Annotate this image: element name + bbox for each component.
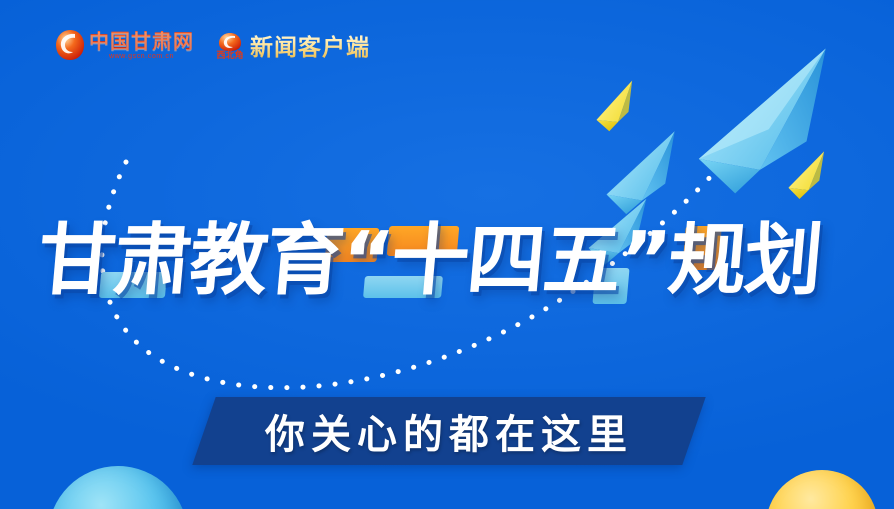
page-title: 甘肃教育“十四五”规划 <box>35 222 824 300</box>
gscn-text: 中国甘肃网 www.gscn.com.cn <box>89 31 194 60</box>
subtitle-text: 你关心的都在这里 <box>204 397 694 465</box>
xibeijiao-badge-label: 西北角 <box>216 52 243 61</box>
cyan-plane-large <box>678 49 864 202</box>
gscn-logo[interactable]: 中国甘肃网 www.gscn.com.cn <box>55 28 194 62</box>
yellow-plane-small-right <box>781 151 838 201</box>
cyan-plane-lower-left <box>580 162 661 224</box>
subtitle-banner: 你关心的都在这里 <box>192 397 705 465</box>
gscn-flame-icon <box>55 28 85 62</box>
cyan-sphere <box>48 466 188 509</box>
news-client-label: 新闻客户端 <box>250 28 370 62</box>
yellow-sphere <box>766 470 878 509</box>
yellow-plane-small-left <box>588 81 648 134</box>
cyan-plane-medium <box>594 131 697 218</box>
poster-canvas: 中国甘肃网 www.gscn.com.cn 西北角 <box>0 0 894 509</box>
gscn-name-label: 中国甘肃网 <box>89 31 194 51</box>
gscn-url-label: www.gscn.com.cn <box>109 53 174 60</box>
main-title-block: 甘肃教育“十四五”规划 <box>38 222 821 300</box>
news-client-logo[interactable]: 西北角 新闻客户端 <box>216 28 370 62</box>
header-logos: 中国甘肃网 www.gscn.com.cn 西北角 <box>55 28 370 62</box>
xibeijiao-flame-icon: 西北角 <box>216 29 244 61</box>
